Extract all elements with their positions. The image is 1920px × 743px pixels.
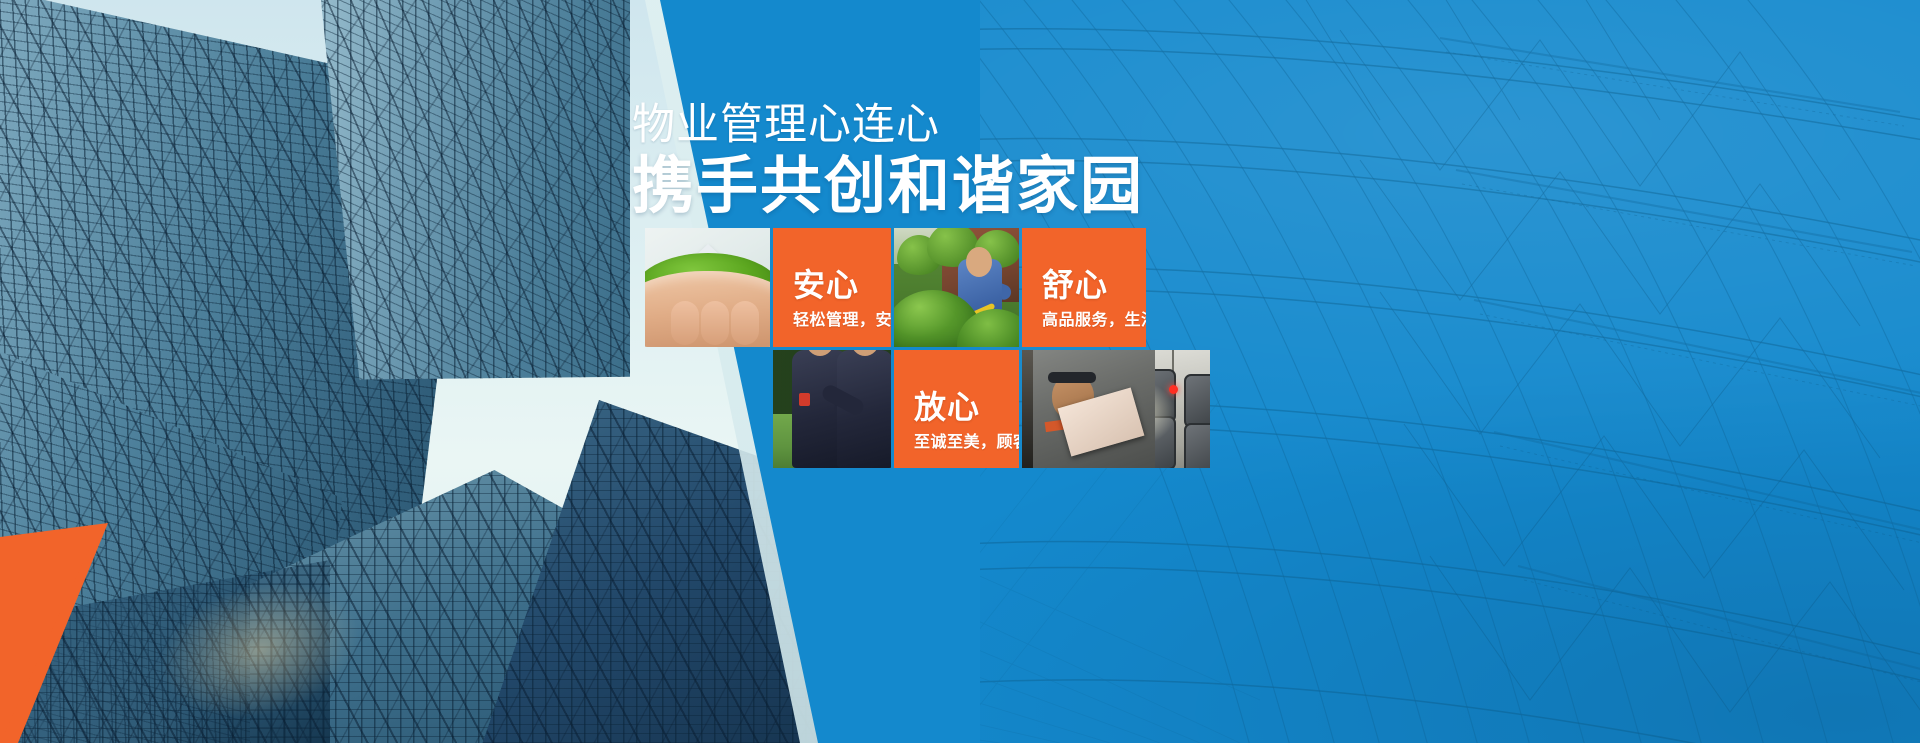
tile-fangxin[interactable]: 放心 至诚至美，顾客放心 (894, 350, 1019, 468)
banner-subtitle: 物业管理心连心 (632, 103, 1332, 149)
tile-technician-switchgear (1022, 350, 1210, 468)
feature-tile-grid: 安心 轻松管理，安全无忧 舒心 高品服务，生活好管家 (645, 228, 1255, 468)
headlamp-icon (1048, 372, 1096, 383)
tile-shuxin-subtitle: 高品服务，生活好管家 (1042, 306, 1146, 330)
tile-fangxin-subtitle: 至诚至美，顾客放心 (914, 428, 1019, 452)
tile-gardener-trimming-hedge (894, 228, 1019, 347)
property-management-banner: 物业管理心连心 携手共创和谐家园 安心 轻松管理，安全无忧 (0, 0, 1920, 743)
tile-hands-holding-grass-house (645, 228, 770, 347)
banner-headline: 携手共创和谐家园 (632, 155, 1332, 219)
tile-shuxin-title: 舒心 (1042, 260, 1108, 306)
headline-block: 物业管理心连心 携手共创和谐家园 (632, 103, 1332, 219)
tile-shuxin[interactable]: 舒心 高品服务，生活好管家 (1022, 228, 1146, 347)
tile-anxin-subtitle: 轻松管理，安全无忧 (793, 306, 891, 330)
tile-anxin[interactable]: 安心 轻松管理，安全无忧 (773, 228, 891, 347)
tile-anxin-title: 安心 (793, 260, 859, 306)
tile-fangxin-title: 放心 (914, 382, 980, 428)
tile-security-guards (773, 350, 891, 468)
